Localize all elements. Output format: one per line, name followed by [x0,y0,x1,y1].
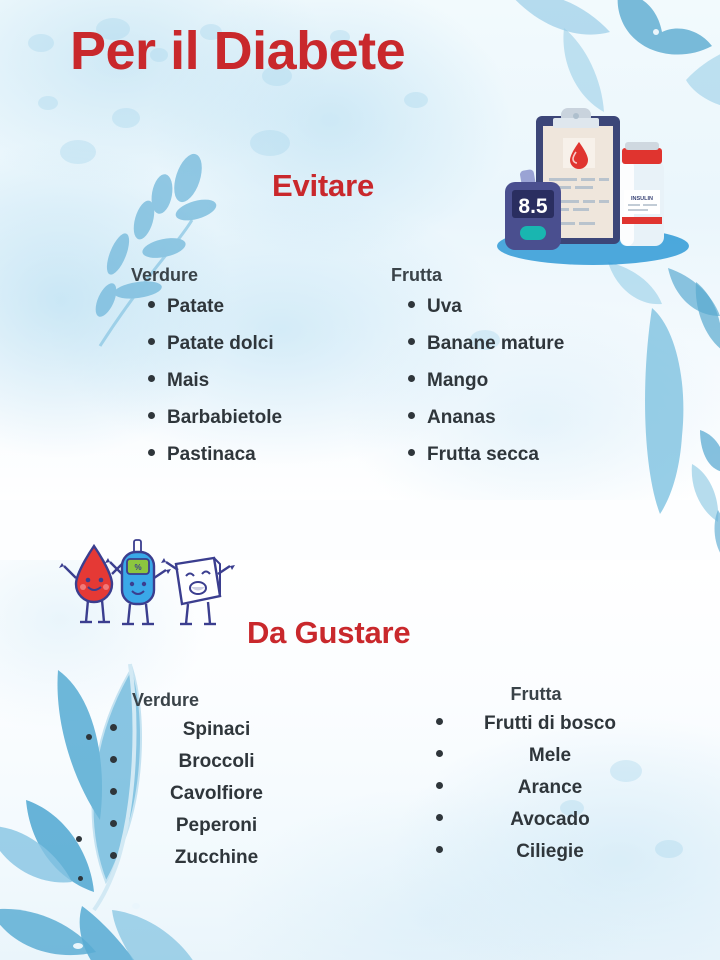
insulin-vial-icon: INSULIN [620,142,664,246]
stray-bullet-icon [76,836,82,842]
list-item-label: Frutta secca [427,444,539,466]
list-item: Mele [436,745,676,777]
mascot-trio-illustration: % [58,534,238,636]
list-item-label: Pastinaca [167,444,256,466]
section-heading-da-gustare: Da Gustare [247,615,410,651]
bullet-icon [436,814,443,821]
list-item-label: Zucchine [129,847,304,869]
list-item-label: Patate [167,296,224,318]
list-item-label: Broccoli [129,751,304,773]
meter-reading-text: 8.5 [518,195,548,218]
list-item-label: Mango [427,370,488,392]
list-item: Cavolfiore [110,783,350,815]
list-item: Patate dolci [148,333,381,370]
bullet-icon [148,338,155,345]
list-item: Broccoli [110,751,350,783]
list-item-label: Banane mature [427,333,564,355]
list-item-label: Ciliegie [455,841,645,863]
list-item-label: Avocado [455,809,645,831]
column-heading-verdure: Verdure [132,690,350,711]
list-item-label: Patate dolci [167,333,274,355]
bullet-icon [110,788,117,795]
list-item-label: Uva [427,296,462,318]
diabetes-kit-illustration: 8.5 INSULIN [489,104,694,269]
list-item: Arance [436,777,676,809]
bullet-icon [436,846,443,853]
list-item: Banane mature [408,333,671,370]
list-item: Spinaci [110,719,350,751]
bullet-icon [408,449,415,456]
poster-canvas: Per il Diabete [0,0,720,960]
bullet-icon [408,338,415,345]
bullet-icon [408,375,415,382]
list-item: Pastinaca [148,444,381,481]
stray-bullet-icon [78,876,83,881]
column-heading-frutta: Frutta [436,684,636,705]
list-item: Frutti di bosco [436,713,676,745]
blood-drop-mascot-icon [59,546,129,622]
list-item-label: Mele [455,745,645,767]
bullet-icon [436,782,443,789]
list-item: Ananas [408,407,671,444]
list-item-label: Arance [455,777,645,799]
bullet-icon [110,756,117,763]
list-item-label: Mais [167,370,209,392]
list-item: Mais [148,370,381,407]
bullet-icon [148,301,155,308]
list-block-evitare-verdure: Verdure Patate Patate dolci Mais Barbabi… [131,265,381,481]
bullet-icon [408,301,415,308]
list-item: Avocado [436,809,676,841]
leaf-cluster-top-right-icon [490,0,720,118]
list-block-gustare-verdure: Verdure Spinaci Broccoli Cavolfiore Pepe… [110,690,350,879]
list-item-label: Spinaci [129,719,304,741]
list-item-label: Peperoni [129,815,304,837]
list-item: Patate [148,296,381,333]
bullet-icon [110,724,117,731]
glucose-meter-mascot-icon: % [105,540,171,624]
bullet-icon [148,412,155,419]
column-heading-frutta: Frutta [391,265,671,286]
section-heading-evitare: Evitare [272,168,374,204]
stray-bullet-icon [86,734,92,740]
list-item: Ciliegie [436,841,676,873]
list-block-evitare-frutta: Frutta Uva Banane mature Mango Ananas Fr… [391,265,671,481]
bullet-icon [148,449,155,456]
list-item-label: Ananas [427,407,496,429]
list-item: Frutta secca [408,444,671,481]
list-item-label: Barbabietole [167,407,282,429]
vial-label-text: INSULIN [631,196,653,202]
bullet-icon [110,852,117,859]
list-item: Uva [408,296,671,333]
list-item: Mango [408,370,671,407]
bullet-icon [436,750,443,757]
list-item: Barbabietole [148,407,381,444]
bullet-icon [110,820,117,827]
bullet-icon [436,718,443,725]
mascot-meter-reading: % [134,563,141,572]
poster-title: Per il Diabete [70,24,405,78]
bullet-icon [408,412,415,419]
column-heading-verdure: Verdure [131,265,381,286]
list-item: Zucchine [110,847,350,879]
list-item: Peperoni [110,815,350,847]
list-block-gustare-frutta: Frutta Frutti di bosco Mele Arance Avoca… [436,684,676,873]
test-strip-mascot-icon [161,558,235,624]
bullet-icon [148,375,155,382]
list-item-label: Frutti di bosco [455,713,645,735]
list-item-label: Cavolfiore [129,783,304,805]
